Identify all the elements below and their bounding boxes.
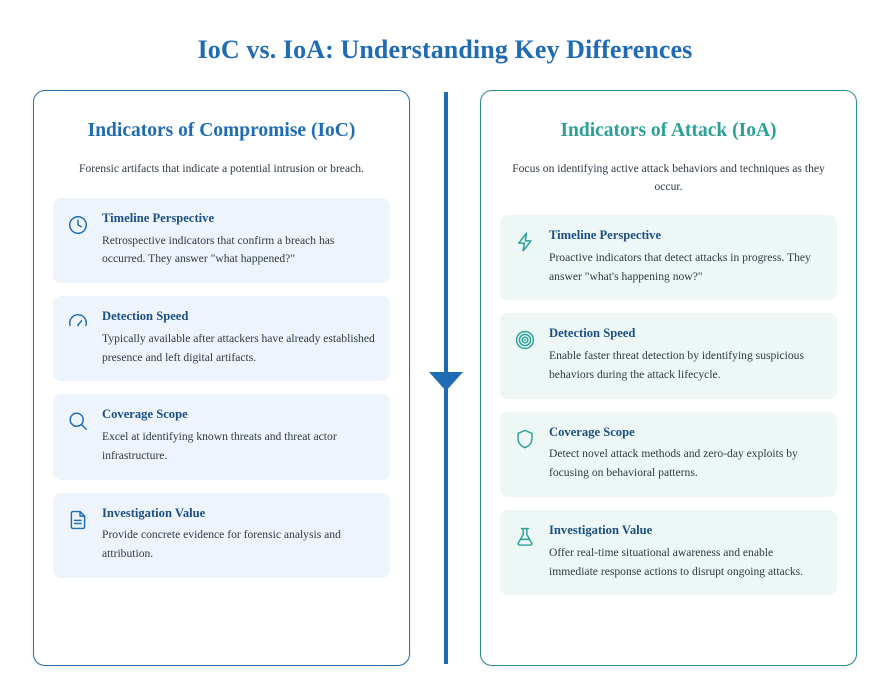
- list-item-desc: Proactive indicators that detect attacks…: [549, 249, 823, 287]
- search-icon: [65, 408, 91, 434]
- list-item-desc: Enable faster threat detection by identi…: [549, 347, 823, 385]
- list-item-body: Timeline Perspective Proactive indicator…: [549, 228, 823, 286]
- gauge-icon: [65, 310, 91, 336]
- ioa-card-subtitle: Focus on identifying active attack behav…: [509, 160, 828, 195]
- list-item-desc: Retrospective indicators that confirm a …: [102, 232, 376, 270]
- list-item-title: Timeline Perspective: [102, 211, 376, 227]
- list-item-title: Investigation Value: [549, 523, 823, 539]
- list-item-desc: Provide concrete evidence for forensic a…: [102, 526, 376, 564]
- ioa-item-list: Timeline Perspective Proactive indicator…: [500, 215, 837, 595]
- list-item-desc: Detect novel attack methods and zero-day…: [549, 445, 823, 483]
- ioc-card-title: Indicators of Compromise (IoC): [53, 119, 390, 143]
- list-item-body: Coverage Scope Detect novel attack metho…: [549, 425, 823, 483]
- infographic-page: IoC vs. IoA: Understanding Key Differenc…: [0, 0, 890, 700]
- document-icon: [65, 507, 91, 533]
- ioa-card: Indicators of Attack (IoA) Focus on iden…: [480, 90, 857, 666]
- shield-icon: [512, 426, 538, 452]
- list-item-body: Investigation Value Provide concrete evi…: [102, 506, 376, 564]
- list-item-title: Timeline Perspective: [549, 228, 823, 244]
- list-item-body: Investigation Value Offer real-time situ…: [549, 523, 823, 581]
- list-item-body: Coverage Scope Excel at identifying know…: [102, 407, 376, 465]
- list-item-title: Detection Speed: [549, 326, 823, 342]
- list-item-body: Timeline Perspective Retrospective indic…: [102, 211, 376, 269]
- list-item-title: Coverage Scope: [549, 425, 823, 441]
- list-item: Timeline Perspective Proactive indicator…: [500, 215, 837, 300]
- list-item: Detection Speed Typically available afte…: [53, 296, 390, 381]
- list-item-desc: Excel at identifying known threats and t…: [102, 428, 376, 466]
- list-item-body: Detection Speed Enable faster threat det…: [549, 326, 823, 384]
- list-item-body: Detection Speed Typically available afte…: [102, 309, 376, 367]
- list-item: Detection Speed Enable faster threat det…: [500, 313, 837, 398]
- down-arrow-icon: [429, 372, 463, 391]
- page-title: IoC vs. IoA: Understanding Key Differenc…: [0, 0, 890, 65]
- list-item: Investigation Value Provide concrete evi…: [53, 493, 390, 578]
- list-item-title: Coverage Scope: [102, 407, 376, 423]
- ioc-card-subtitle: Forensic artifacts that indicate a poten…: [62, 160, 381, 177]
- flask-icon: [512, 524, 538, 550]
- list-item: Timeline Perspective Retrospective indic…: [53, 198, 390, 283]
- list-item-title: Investigation Value: [102, 506, 376, 522]
- list-item: Coverage Scope Excel at identifying know…: [53, 394, 390, 479]
- list-item-desc: Offer real-time situational awareness an…: [549, 544, 823, 582]
- list-item-desc: Typically available after attackers have…: [102, 330, 376, 368]
- ioc-item-list: Timeline Perspective Retrospective indic…: [53, 198, 390, 578]
- list-item: Investigation Value Offer real-time situ…: [500, 510, 837, 595]
- ioa-card-title: Indicators of Attack (IoA): [500, 119, 837, 143]
- list-item: Coverage Scope Detect novel attack metho…: [500, 412, 837, 497]
- ioc-card: Indicators of Compromise (IoC) Forensic …: [33, 90, 410, 666]
- list-item-title: Detection Speed: [102, 309, 376, 325]
- lightning-bolt-icon: [512, 229, 538, 255]
- clock-icon: [65, 212, 91, 238]
- target-icon: [512, 327, 538, 353]
